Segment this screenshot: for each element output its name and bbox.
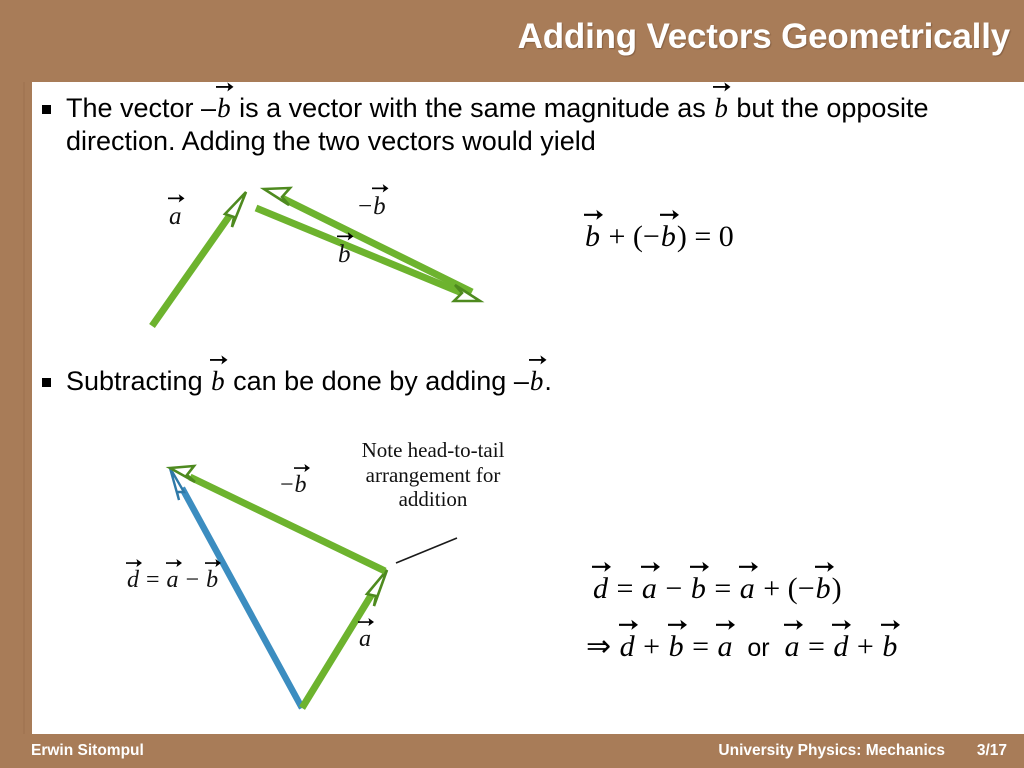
figure-2-label-a: a bbox=[358, 626, 372, 653]
vector-b-term: b bbox=[881, 630, 898, 664]
equation-d-plus-b-equals-a: ⇒ d + b = a or a = d + b bbox=[586, 629, 898, 664]
vector-d-term: d bbox=[592, 572, 609, 606]
vector-b-letter: b bbox=[373, 193, 386, 220]
bullet-1-seg-2: is a vector with the same magnitude as bbox=[232, 93, 714, 123]
vector-a-term: a bbox=[716, 630, 733, 664]
vector-a-letter: a bbox=[169, 203, 182, 230]
vector-b-inline: b bbox=[210, 365, 226, 398]
plus-sign: + ( bbox=[756, 572, 798, 605]
vector-a-label: a bbox=[168, 203, 183, 231]
vector-b-letter: b bbox=[295, 472, 307, 498]
vector-d-term: d bbox=[619, 630, 636, 664]
annotation-leader-line bbox=[396, 538, 457, 563]
minus-sign: − bbox=[798, 572, 815, 605]
bullet-2-seg-4: . bbox=[544, 366, 552, 396]
vector-b-letter: b bbox=[211, 366, 225, 396]
vector-b-term: b bbox=[815, 572, 832, 606]
plus-sign: + bbox=[636, 630, 668, 663]
minus-sign: − bbox=[643, 220, 660, 253]
footer-author: Erwin Sitompul bbox=[31, 742, 144, 760]
bullet-item-2-text: Subtracting b can be done by adding –b. bbox=[66, 365, 552, 398]
close-paren: ) bbox=[832, 572, 842, 605]
bullet-2-seg-0: Subtracting bbox=[66, 366, 210, 396]
vector-b-label: b bbox=[337, 241, 352, 269]
vector-b-inline: b bbox=[713, 92, 729, 125]
opposite-vectors-diagram: a −b b bbox=[130, 175, 510, 340]
figure-1-label-b: b bbox=[337, 241, 352, 269]
vector-a-label: a bbox=[166, 567, 180, 594]
equals-zero: ) = 0 bbox=[677, 220, 734, 253]
bullet-2-seg-2: can be done by adding – bbox=[226, 366, 529, 396]
vector-a-label: a bbox=[358, 626, 372, 653]
vector-a-letter: a bbox=[359, 626, 371, 652]
bullet-item-2: Subtracting b can be done by adding –b. bbox=[42, 365, 942, 398]
vector-subtraction-triangle: Note head-to-tail arrangement for additi… bbox=[120, 430, 570, 725]
vector-b-term: b bbox=[584, 220, 601, 254]
vector-b-inline: b bbox=[216, 92, 232, 125]
equals-sign: = bbox=[140, 567, 166, 593]
square-bullet-icon bbox=[42, 105, 51, 114]
plus-sign: + ( bbox=[601, 220, 643, 253]
annotation-line-3: addition bbox=[298, 487, 568, 512]
figure-1-label-minus-b: −b bbox=[358, 193, 387, 221]
vector-b-inline: b bbox=[529, 365, 545, 398]
equation-b-plus-minus-b: b + (−b) = 0 bbox=[584, 220, 734, 254]
minus-sign: − bbox=[658, 572, 690, 605]
annotation-line-1: Note head-to-tail bbox=[298, 438, 568, 463]
vector-b-letter: b bbox=[714, 93, 728, 123]
figure-1-label-a: a bbox=[168, 203, 183, 231]
or-conjunction: or bbox=[733, 634, 783, 662]
slide-canvas: Adding Vectors Geometrically The vector … bbox=[0, 0, 1024, 768]
bullet-item-1: The vector –b is a vector with the same … bbox=[42, 92, 1002, 158]
vector-b-label: b bbox=[294, 472, 308, 499]
slide-left-strip bbox=[0, 82, 32, 734]
vector-a-term: a bbox=[739, 572, 756, 606]
vector-a bbox=[302, 570, 387, 708]
plus-sign: + bbox=[849, 630, 881, 663]
vector-a-term: a bbox=[641, 572, 658, 606]
equals-sign: = bbox=[801, 630, 833, 663]
vector-b bbox=[256, 208, 480, 301]
vector-b-term: b bbox=[660, 220, 677, 254]
vector-b-term: b bbox=[690, 572, 707, 606]
vector-a-term: a bbox=[784, 630, 801, 664]
vector-d-label: d bbox=[126, 567, 140, 594]
vector-b-letter: b bbox=[338, 241, 351, 268]
figure-2-label-d-equation: d = a − b bbox=[126, 567, 219, 594]
vector-b-term: b bbox=[668, 630, 685, 664]
vector-d-term: d bbox=[832, 630, 849, 664]
minus-sign: − bbox=[180, 567, 206, 593]
bullet-1-seg-0: The vector – bbox=[66, 93, 216, 123]
annotation-line-2: arrangement for bbox=[298, 463, 568, 488]
vector-b-label: b bbox=[372, 193, 387, 221]
minus-sign: − bbox=[358, 193, 372, 220]
equals-sign: = bbox=[707, 572, 739, 605]
slide-left-strip-rule bbox=[23, 82, 25, 734]
page-title: Adding Vectors Geometrically bbox=[518, 17, 1010, 57]
head-to-tail-annotation: Note head-to-tail arrangement for additi… bbox=[298, 438, 568, 512]
square-bullet-icon bbox=[42, 378, 51, 387]
vector-b-letter: b bbox=[530, 366, 544, 396]
equals-sign: = bbox=[609, 572, 641, 605]
implies-sign: ⇒ bbox=[586, 630, 619, 663]
figure-2-label-minus-b: −b bbox=[280, 472, 308, 499]
vector-a bbox=[152, 192, 246, 326]
figure-1-canvas bbox=[130, 175, 510, 340]
equation-d-equals-a-minus-b: d = a − b = a + (−b) bbox=[592, 572, 842, 606]
minus-sign: − bbox=[280, 472, 294, 498]
footer-course: University Physics: Mechanics bbox=[718, 742, 945, 760]
vector-b-label: b bbox=[205, 567, 219, 594]
equals-sign: = bbox=[685, 630, 717, 663]
vector-b-letter: b bbox=[217, 93, 231, 123]
footer-page-number: 3/17 bbox=[977, 742, 1007, 760]
bullet-item-1-text: The vector –b is a vector with the same … bbox=[66, 92, 1002, 158]
